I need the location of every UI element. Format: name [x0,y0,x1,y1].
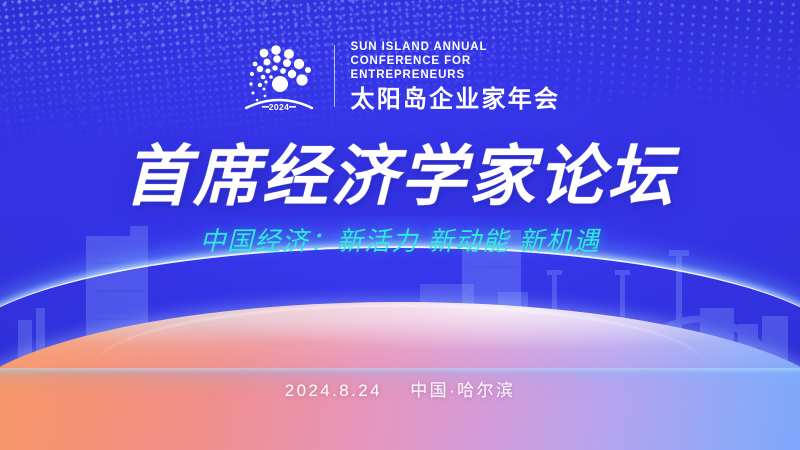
event-meta: 2024.8.24 中国·哈尔滨 [0,382,800,399]
conference-poster: 2024 SUN ISLAND ANNUAL CONFERENCE FOR EN… [0,0,800,450]
logo-year-text: 2024 [268,102,289,112]
page-subtitle: 中国经济：新活力 新动能 新机遇 [0,228,800,254]
conference-logo-lockup: 2024 SUN ISLAND ANNUAL CONFERENCE FOR EN… [0,36,800,116]
page-title: 首席经济学家论坛 [0,143,800,209]
event-location: 中国·哈尔滨 [410,381,515,400]
conference-chinese-name: 太阳岛企业家年会 [351,88,561,112]
logo-text-block: SUN ISLAND ANNUAL CONFERENCE FOR ENTREPR… [351,40,561,112]
event-date: 2024.8.24 [285,381,382,400]
aurora-gradient-band [0,302,800,450]
band-sheen-highlight [0,302,800,450]
sun-island-sunburst-logo-icon: 2024 [240,36,318,116]
conference-english-name: SUN ISLAND ANNUAL CONFERENCE FOR ENTREPR… [351,40,561,82]
logo-divider [334,45,335,107]
